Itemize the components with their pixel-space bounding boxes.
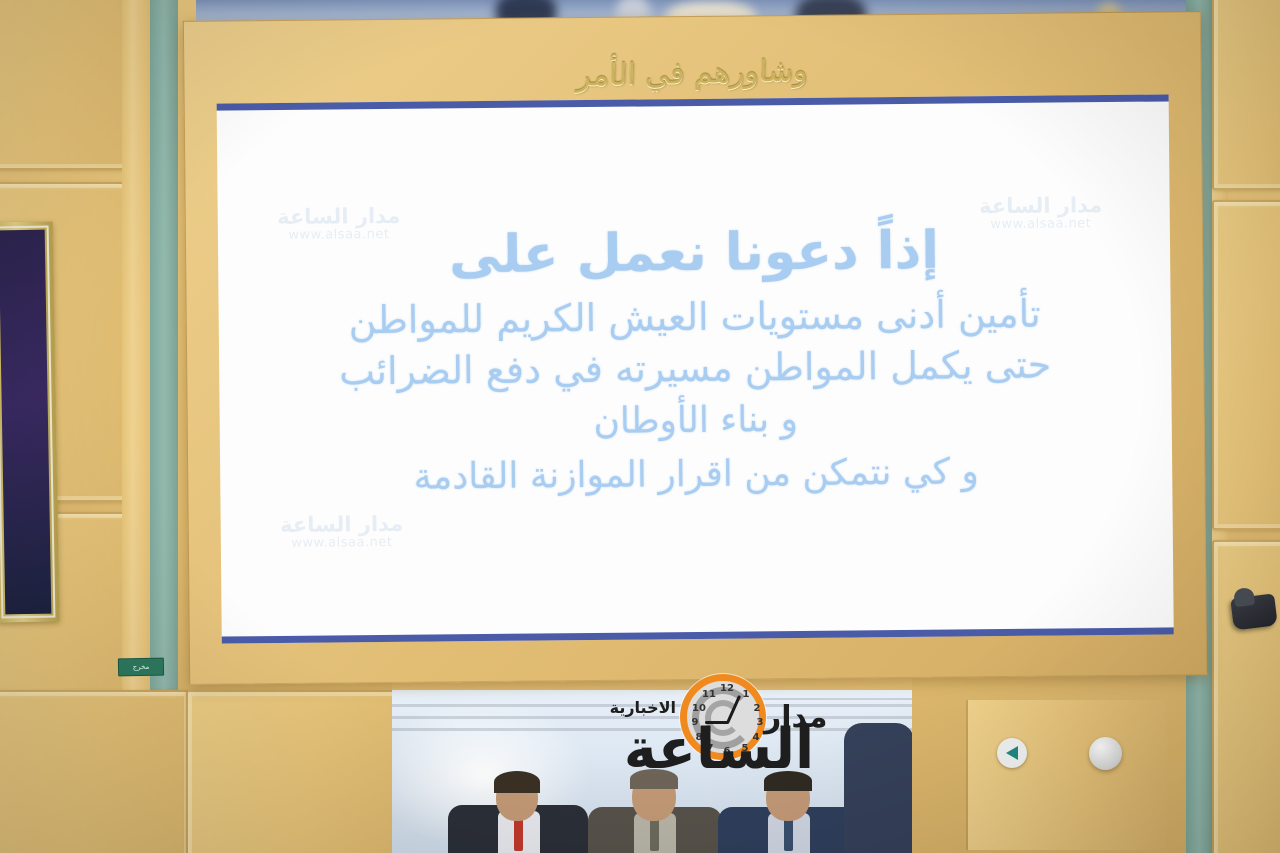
framed-picture <box>0 221 59 622</box>
slide-line-4: و بناء الأوطان <box>219 390 1171 453</box>
wall-camera-icon <box>1230 593 1278 630</box>
round-wall-knob <box>1089 737 1122 770</box>
wall-panel-bottom-mid <box>186 690 401 853</box>
slide-line-1: إذاً دعونا نعمل على <box>218 219 1171 288</box>
slide-line-2: تأمين أدنى مستويات العيش الكريم للمواطن <box>218 287 1170 347</box>
left-arrow-icon <box>1006 746 1018 760</box>
direction-arrow-badge <box>997 738 1027 768</box>
projection-screen: إذاً دعونا نعمل على تأمين أدنى مستويات ا… <box>217 94 1174 643</box>
presentation-slide: إذاً دعونا نعمل على تأمين أدنى مستويات ا… <box>217 101 1174 636</box>
wall-panel-bottom-left <box>0 690 190 853</box>
clock-number: 12 <box>720 683 734 694</box>
slide-line-3: حتى يكمل المواطن مسيرته في دفع الضرائب <box>219 339 1171 399</box>
clock-number: 1 <box>739 689 753 700</box>
standing-person <box>844 723 912 853</box>
clock-number: 2 <box>750 703 764 714</box>
clock-number: 11 <box>702 689 716 700</box>
meeting-room-photo: مخرج <box>0 0 1280 853</box>
exit-sign-label: مخرج <box>133 663 150 671</box>
wall-panel-right-lower <box>1212 540 1280 853</box>
channel-logo-watermark: 12 1 2 3 4 5 6 7 8 9 10 11 الاخبارية مدا… <box>586 672 826 800</box>
clock-number: 10 <box>692 703 706 714</box>
seated-person <box>448 771 588 853</box>
picture-artwork <box>0 230 51 615</box>
wall-panel-right-mid <box>1212 200 1280 530</box>
logo-subtitle: الاخبارية <box>610 698 676 717</box>
wall-panel-right-upper <box>1212 0 1280 190</box>
slide-line-5: و كي نتمكن من اقرار الموازنة القادمة <box>220 444 1172 507</box>
quranic-inscription: وشاورهم في الأمر <box>576 53 808 93</box>
exit-sign: مخرج <box>118 658 164 677</box>
projection-screen-frame: وشاورهم في الأمر إذاً دعونا نعمل على تأم… <box>183 11 1207 685</box>
logo-name-main: الساعة <box>604 722 834 778</box>
door-panel-right <box>966 700 1166 850</box>
